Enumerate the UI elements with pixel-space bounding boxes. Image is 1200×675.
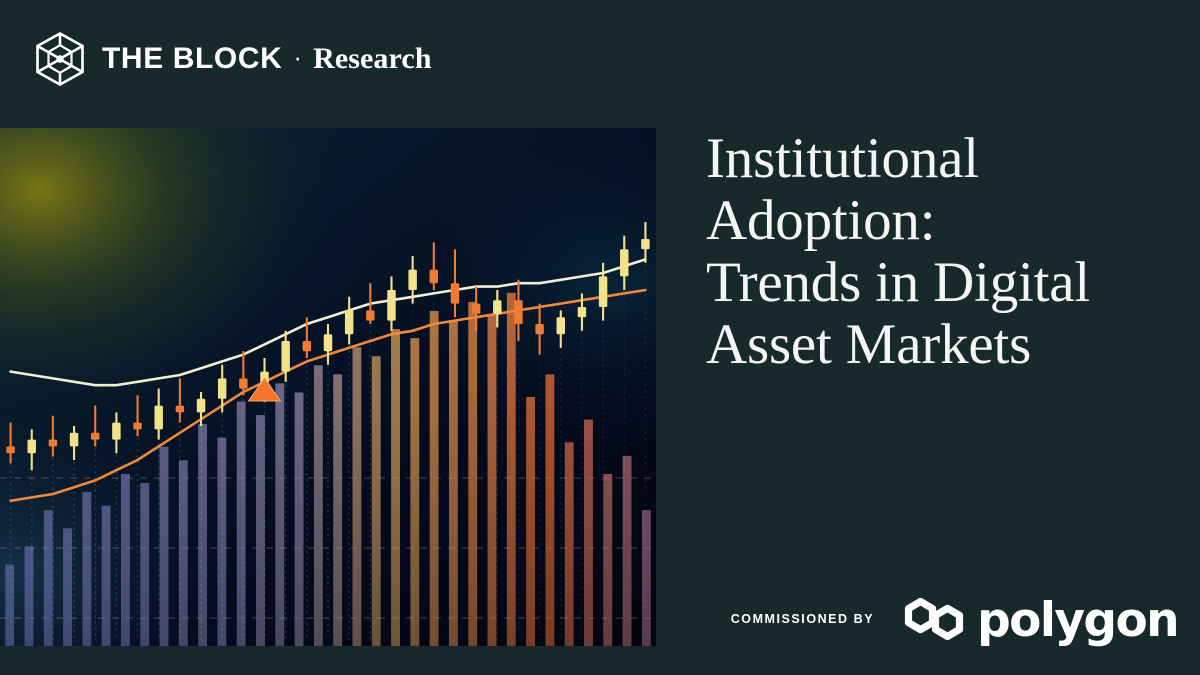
market-chart-graphic	[0, 128, 656, 646]
sponsor-footer: COMMISSIONED BY polygon	[731, 591, 1178, 647]
volume-bar	[275, 383, 284, 646]
candle-body	[133, 423, 141, 430]
volume-bar	[410, 338, 419, 646]
volume-bar	[102, 506, 111, 646]
volume-bar	[44, 510, 53, 646]
volume-bar	[545, 374, 554, 646]
volume-bar	[140, 483, 149, 646]
candle-body	[535, 324, 543, 334]
volume-bar	[623, 456, 632, 646]
candle-body	[239, 378, 247, 388]
volume-bar	[507, 293, 516, 646]
volume-bar	[642, 510, 651, 646]
brand-lockup: THE BLOCK · Research	[34, 30, 432, 88]
candle-body	[472, 304, 480, 314]
page-title: Institutional Adoption: Trends in Digita…	[706, 128, 1176, 375]
volume-bar	[5, 565, 14, 647]
volume-bar	[256, 415, 265, 646]
title-line-2: Adoption:	[706, 189, 935, 252]
candle-body	[70, 433, 78, 447]
title-line-4: Asset Markets	[706, 313, 1031, 376]
polygon-wordmark: polygon	[977, 597, 1178, 644]
candle-body	[451, 283, 459, 303]
candle-body	[599, 276, 607, 307]
volume-bar	[314, 365, 323, 646]
volume-bar	[526, 397, 535, 646]
candle-body	[620, 249, 628, 276]
volume-bar	[584, 420, 593, 646]
brand-secondary-text: Research	[313, 42, 432, 76]
candle-body	[408, 270, 416, 290]
volume-bar	[565, 442, 574, 646]
candle-body	[641, 239, 649, 249]
brand-wordmark: THE BLOCK · Research	[102, 42, 432, 76]
candle-body	[112, 423, 120, 440]
brand-primary-text: THE BLOCK	[102, 42, 282, 76]
the-block-cube-icon	[34, 31, 86, 87]
volume-bar	[333, 374, 342, 646]
volume-bar	[391, 329, 400, 646]
candle-body	[6, 446, 14, 453]
title-line-1: Institutional	[706, 127, 979, 190]
volume-bar	[488, 315, 497, 646]
volume-bar	[295, 392, 304, 646]
candle-body	[366, 310, 374, 320]
cube-core-dot	[56, 55, 63, 62]
volume-bar	[82, 492, 91, 646]
volume-bar	[160, 447, 169, 646]
volume-bar	[449, 320, 458, 646]
volume-bar	[430, 311, 439, 646]
candle-body	[493, 300, 501, 314]
candle-body	[514, 300, 522, 324]
candle-body	[28, 440, 36, 454]
volume-bar	[372, 356, 381, 646]
candle-body	[324, 334, 332, 351]
volume-bar	[121, 474, 130, 646]
chart-image-panel	[0, 128, 656, 646]
brand-separator-dot: ·	[293, 42, 302, 73]
volume-bar	[603, 474, 612, 646]
slide-root: THE BLOCK · Research	[0, 0, 1200, 675]
candle-body	[281, 341, 289, 372]
candle-body	[218, 378, 226, 398]
volume-bar	[217, 438, 226, 646]
candle-body	[430, 270, 438, 284]
volume-bar	[353, 347, 362, 646]
candle-body	[176, 406, 184, 413]
title-block: Institutional Adoption: Trends in Digita…	[706, 128, 1176, 375]
candle-body	[49, 440, 57, 447]
candle-body	[345, 310, 353, 334]
commissioned-by-label: COMMISSIONED BY	[731, 612, 874, 626]
title-line-3: Trends in Digital	[706, 251, 1090, 314]
candle-body	[387, 290, 395, 321]
volume-bar	[25, 546, 34, 646]
candle-body	[557, 317, 565, 334]
polygon-lockup: polygon	[898, 591, 1178, 647]
volume-bar	[198, 424, 207, 646]
candle-body	[154, 406, 162, 430]
candle-body	[303, 341, 311, 351]
volume-bar	[63, 528, 72, 646]
candle-body	[91, 433, 99, 440]
chart-glow-right	[0, 128, 656, 646]
volume-bar	[237, 402, 246, 647]
polygon-double-hexagon-icon	[898, 591, 970, 647]
candle-body	[578, 307, 586, 317]
candle-body	[197, 399, 205, 413]
